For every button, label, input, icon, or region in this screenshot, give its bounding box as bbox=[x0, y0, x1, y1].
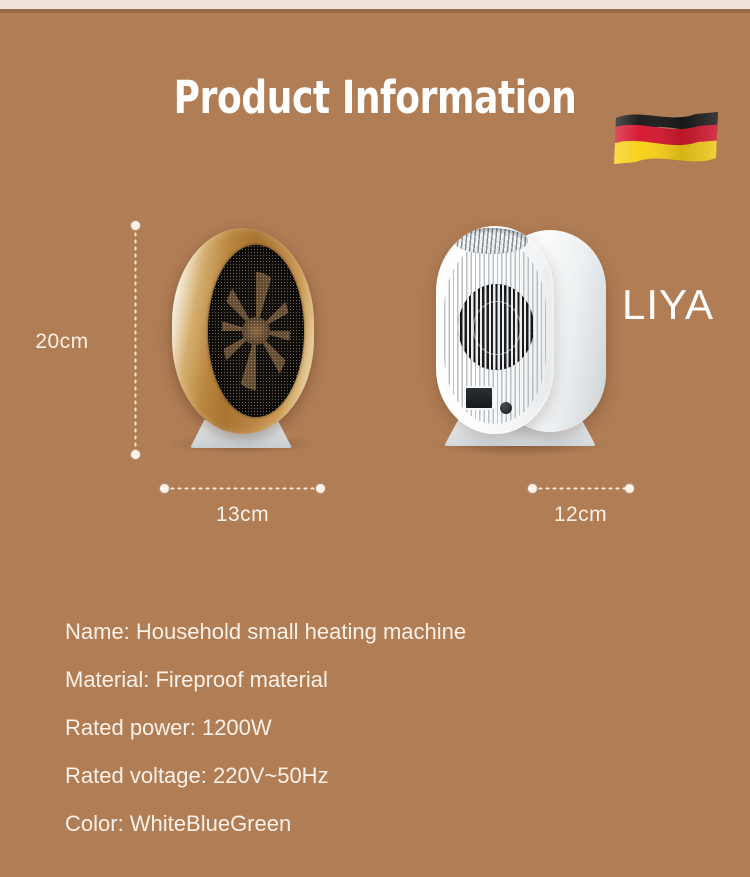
white-heater-knob bbox=[500, 402, 512, 414]
white-heater-image bbox=[430, 226, 610, 470]
white-heater-top-vent bbox=[454, 228, 528, 254]
spec-material: Material: Fireproof material bbox=[65, 656, 685, 704]
top-divider-rule bbox=[0, 9, 750, 13]
spec-color: Color: WhiteBlueGreen bbox=[65, 800, 685, 848]
dim-width-left-dot-end bbox=[316, 484, 325, 493]
dim-height-dot-bottom bbox=[131, 450, 140, 459]
top-accent-strip bbox=[0, 0, 750, 9]
specification-list: Name: Household small heating machine Ma… bbox=[65, 608, 685, 848]
gold-heater-body bbox=[172, 228, 314, 434]
gold-heater-grille bbox=[208, 245, 304, 417]
dim-width-right-label: 12cm bbox=[518, 503, 643, 527]
white-heater-switch bbox=[464, 386, 494, 410]
dim-width-right-line bbox=[537, 487, 626, 490]
gold-heater-image bbox=[160, 228, 325, 468]
product-information-page: Product Information bbox=[0, 0, 750, 877]
brand-name: LIYA bbox=[598, 284, 738, 326]
german-flag-icon bbox=[606, 108, 726, 172]
dim-width-right-dot-start bbox=[528, 484, 537, 493]
dim-width-left-label: 13cm bbox=[160, 503, 325, 527]
white-heater-front-panel bbox=[436, 226, 554, 434]
dim-height-dot-top bbox=[131, 221, 140, 230]
spec-rated-voltage: Rated voltage: 220V~50Hz bbox=[65, 752, 685, 800]
gold-heater-mesh bbox=[208, 245, 304, 417]
dim-width-right-dot-end bbox=[625, 484, 634, 493]
spec-name: Name: Household small heating machine bbox=[65, 608, 685, 656]
dim-height-line bbox=[134, 231, 137, 453]
white-heater-fan-ring bbox=[473, 301, 521, 355]
dim-height-label: 20cm bbox=[0, 330, 124, 354]
dim-width-left-dot-start bbox=[160, 484, 169, 493]
spec-rated-power: Rated power: 1200W bbox=[65, 704, 685, 752]
dim-width-left-line bbox=[169, 487, 317, 490]
page-title: Product Information bbox=[75, 72, 675, 124]
white-heater-fan bbox=[458, 284, 534, 370]
brand-block: LIYA bbox=[598, 108, 738, 226]
